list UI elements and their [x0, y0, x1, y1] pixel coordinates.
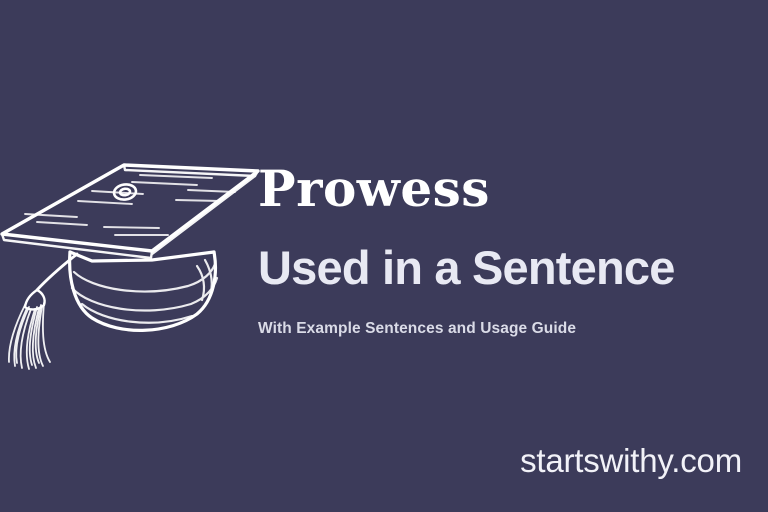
tassel-strands — [9, 303, 50, 369]
page-subtitle: With Example Sentences and Usage Guide — [258, 318, 758, 340]
graduation-cap-icon — [0, 148, 267, 363]
promo-card-canvas: Prowess Used in a Sentence With Example … — [0, 0, 768, 512]
site-watermark: startswithy.com — [520, 441, 742, 481]
headline-block: Prowess Used in a Sentence With Example … — [258, 160, 758, 340]
cap-crown-bands — [72, 260, 217, 323]
word-title: Prowess — [258, 160, 758, 218]
mortarboard-shape — [2, 165, 258, 251]
page-title: Used in a Sentence — [258, 240, 758, 296]
